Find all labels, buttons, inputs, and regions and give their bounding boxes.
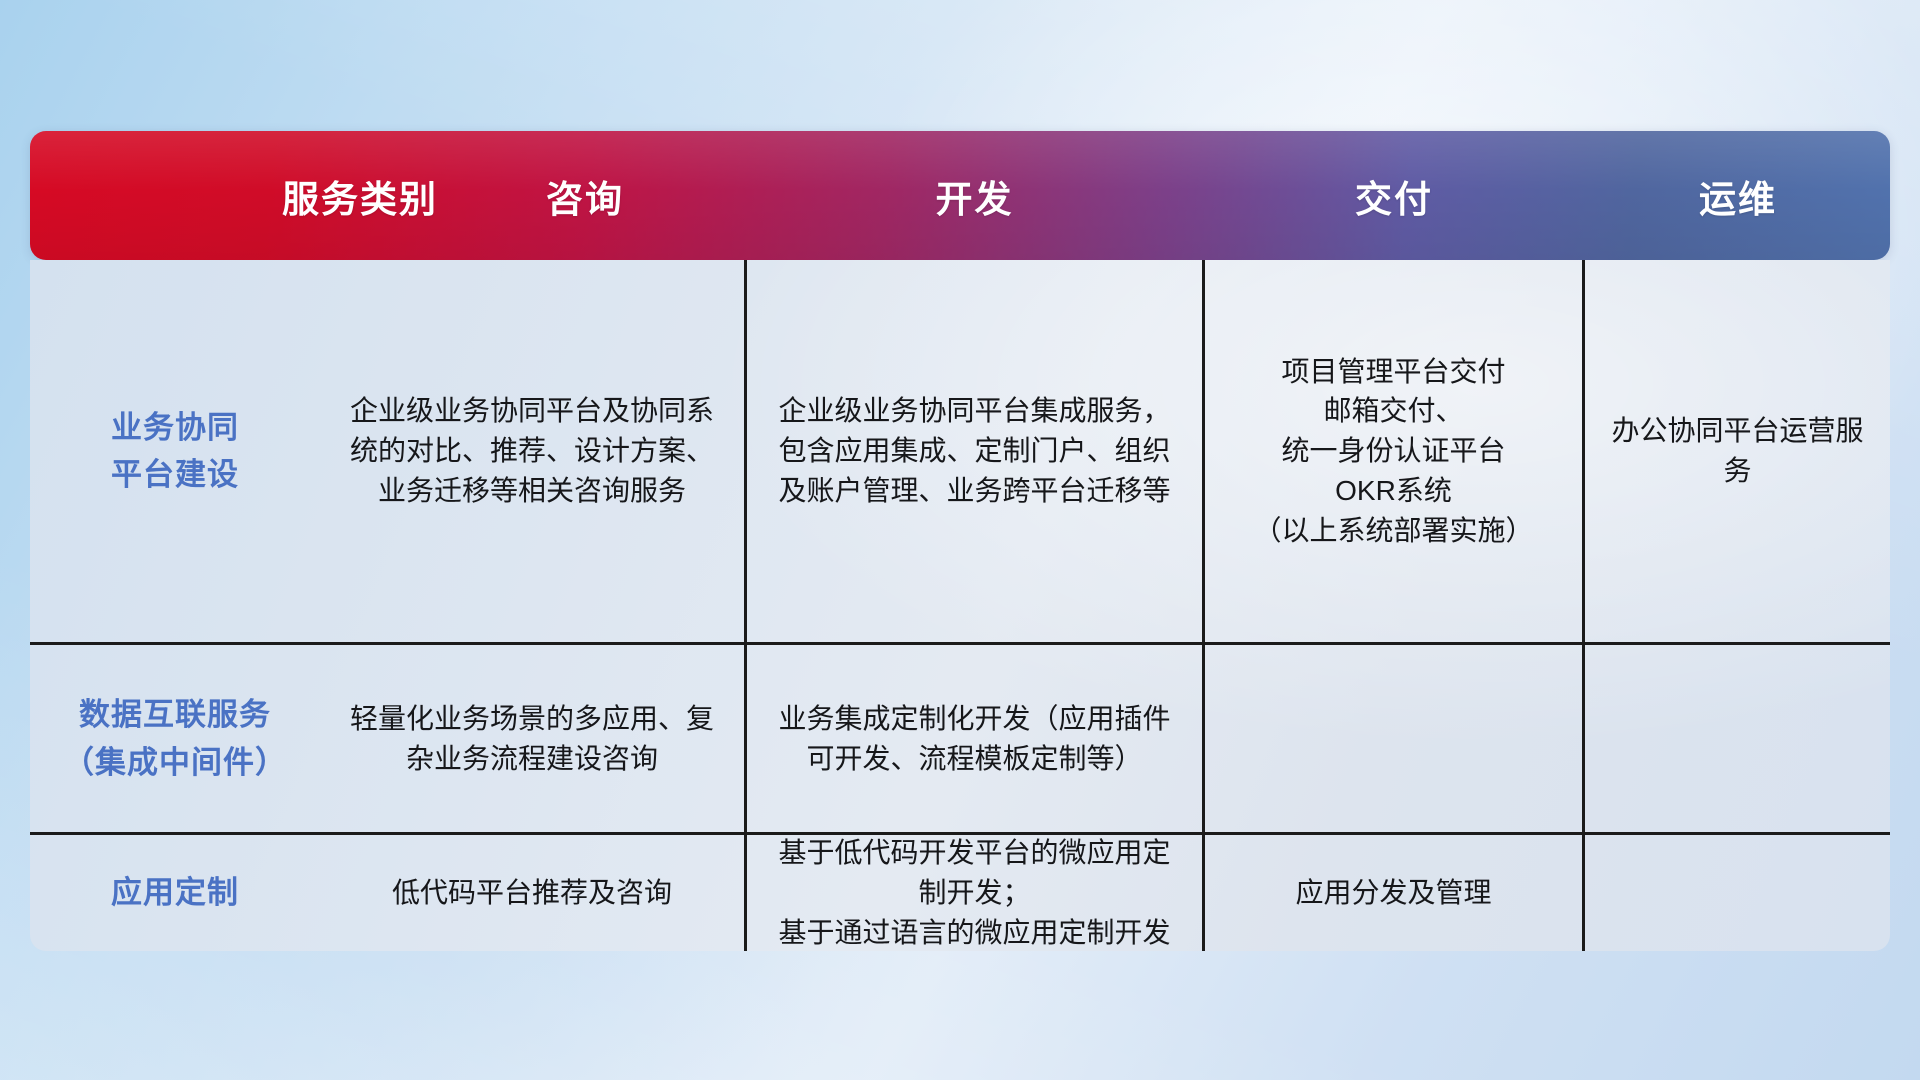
cell-row2-operations	[1585, 645, 1890, 832]
cell-row3-delivery: 应用分发及管理	[1205, 835, 1582, 951]
table-row: 应用定制	[30, 835, 320, 951]
cell-row2-consulting: 轻量化业务场景的多应用、复 杂业务流程建设咨询	[320, 645, 744, 832]
table-body: 业务协同 平台建设 企业级业务协同平台及协同系 统的对比、推荐、设计方案、 业务…	[30, 260, 1890, 951]
cell-row3-operations	[1585, 835, 1890, 951]
cell-row3-development: 基于低代码开发平台的微应用定 制开发； 基于通过语言的微应用定制开发	[747, 835, 1202, 951]
cell-row2-development: 业务集成定制化开发（应用插件 可开发、流程模板定制等）	[747, 645, 1202, 832]
cell-row2-delivery	[1205, 645, 1582, 832]
row-label-3: 应用定制	[111, 869, 239, 916]
table-row: 业务协同 平台建设	[30, 260, 320, 642]
cell-row1-consulting: 企业级业务协同平台及协同系 统的对比、推荐、设计方案、 业务迁移等相关咨询服务	[320, 260, 744, 642]
column-header-development: 开发	[747, 169, 1202, 223]
cell-row3-consulting: 低代码平台推荐及咨询	[320, 835, 744, 951]
cell-row1-operations: 办公协同平台运营服务	[1585, 260, 1890, 642]
row-label-1: 业务协同 平台建设	[111, 404, 239, 498]
cell-row1-development: 企业级业务协同平台集成服务， 包含应用集成、定制门户、组织 及账户管理、业务跨平…	[747, 260, 1202, 642]
table-row: 数据互联服务 （集成中间件）	[30, 645, 320, 832]
row-label-2: 数据互联服务 （集成中间件）	[63, 691, 287, 785]
column-header-delivery: 交付	[1205, 169, 1583, 223]
table-header-row: 服务类别 咨询 开发 交付 运维	[30, 131, 1890, 260]
service-matrix-table: 服务类别 咨询 开发 交付 运维 业务协同 平台建设 企业级业务协同平台及协同系…	[30, 131, 1890, 951]
cell-row1-delivery: 项目管理平台交付 邮箱交付、 统一身份认证平台 OKR系统 （以上系统部署实施）	[1205, 260, 1582, 642]
column-header-operations: 运维	[1586, 169, 1890, 223]
